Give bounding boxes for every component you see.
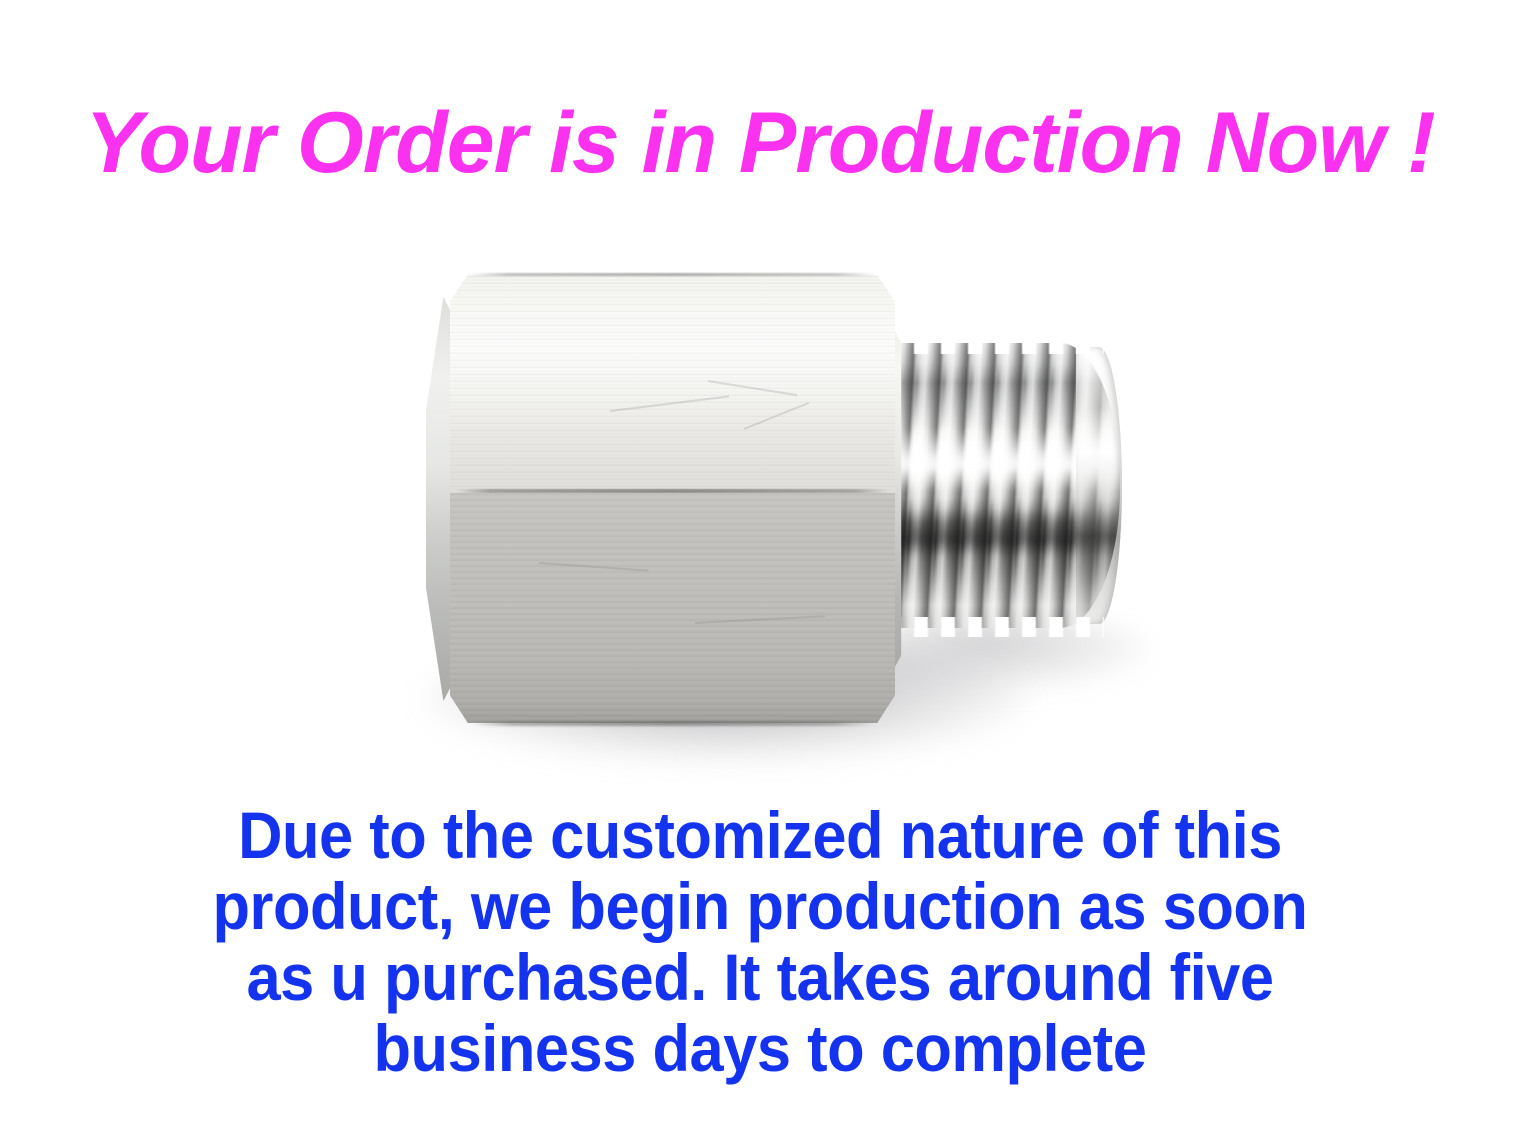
machining-striations-lower <box>450 493 895 723</box>
page-title: Your Order is in Production Now ! <box>0 95 1520 191</box>
product-image <box>330 245 1210 790</box>
hex-edge-seam <box>456 489 889 493</box>
notice-line-1: Due to the customized nature of this <box>53 800 1467 871</box>
thread-crests-top <box>867 334 1104 354</box>
hex-edge-top <box>468 273 877 276</box>
machining-striations-upper <box>450 275 895 493</box>
production-notice-card: Your Order is in Production Now ! <box>0 0 1520 1140</box>
thread-end-cap <box>1076 347 1122 624</box>
notice-line-4: business days to complete <box>53 1013 1467 1084</box>
hex-flat-upper <box>450 275 895 493</box>
hex-body <box>450 275 895 723</box>
hex-edge-bottom <box>472 721 873 726</box>
production-notice-text: Due to the customized nature of this pro… <box>0 800 1520 1084</box>
notice-line-3: as u purchased. It takes around five <box>53 942 1467 1013</box>
hex-flat-lower <box>450 493 895 723</box>
thread-crests-bottom <box>867 617 1104 637</box>
notice-line-2: product, we begin production as soon <box>53 871 1467 942</box>
male-thread-shank <box>865 343 1120 628</box>
